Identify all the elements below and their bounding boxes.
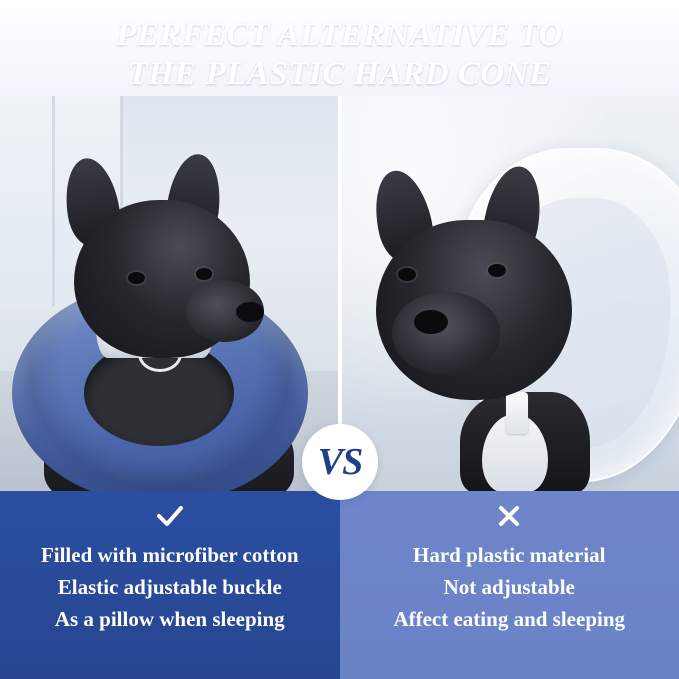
- feature-item: Not adjustable: [444, 571, 575, 603]
- dog-muzzle: [392, 292, 500, 374]
- infographic-page: PERFECT ALTERNATIVE TO THE PLASTIC HARD …: [0, 0, 679, 679]
- feature-item: Affect eating and sleeping: [393, 603, 625, 635]
- panel-inflatable-collar: Filled with microfiber cotton Elastic ad…: [0, 491, 340, 679]
- panel-plastic-cone: Hard plastic material Not adjustable Aff…: [340, 491, 679, 679]
- dog-eye-left: [398, 268, 416, 281]
- headline-line-2: THE PLASTIC HARD CONE: [0, 55, 679, 94]
- check-icon: [155, 501, 185, 531]
- dog-nose: [236, 302, 264, 322]
- vs-label: VS: [318, 440, 362, 484]
- dog-eye-right: [196, 268, 212, 280]
- feature-item: Filled with microfiber cotton: [41, 539, 299, 571]
- page-title: PERFECT ALTERNATIVE TO THE PLASTIC HARD …: [0, 16, 679, 94]
- comparison-panels: Filled with microfiber cotton Elastic ad…: [0, 491, 679, 679]
- vs-badge: VS: [302, 424, 378, 500]
- dog-nose: [414, 310, 448, 334]
- cone-clip: [506, 392, 528, 434]
- feature-item: As a pillow when sleeping: [55, 603, 285, 635]
- feature-item: Hard plastic material: [413, 539, 605, 571]
- dog-eye-right: [488, 264, 506, 277]
- headline-line-1: PERFECT ALTERNATIVE TO: [0, 16, 679, 55]
- feature-item: Elastic adjustable buckle: [58, 571, 282, 603]
- photo-plastic-cone-dog: [340, 96, 679, 491]
- photo-inflatable-collar-dog: [0, 96, 340, 491]
- cross-icon: [494, 501, 524, 531]
- dog-eye-left: [128, 272, 145, 284]
